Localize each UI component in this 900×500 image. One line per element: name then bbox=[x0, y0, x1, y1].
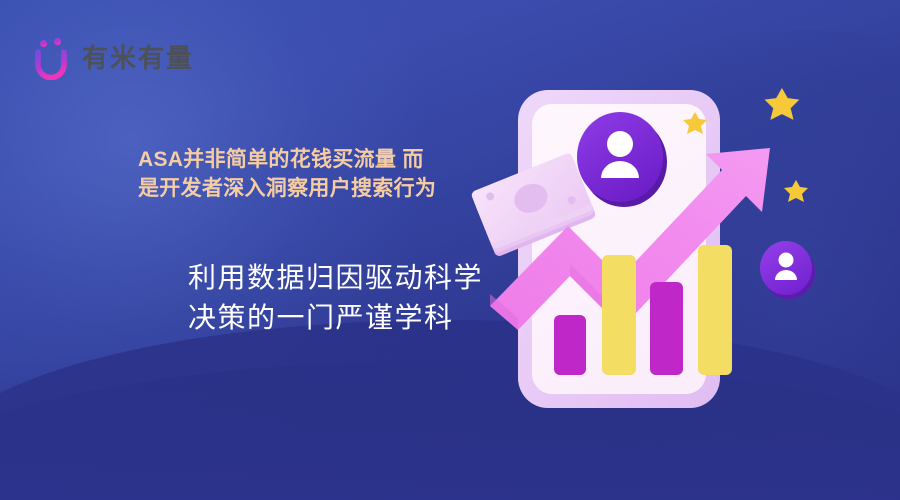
growth-chart-phone-illustration bbox=[470, 60, 900, 460]
star-icon-2 bbox=[765, 88, 800, 120]
u-umlaut-logo-icon bbox=[30, 36, 72, 80]
brand-logo-text: 有米有量 bbox=[82, 45, 194, 71]
user-avatar-small-icon bbox=[760, 241, 815, 299]
star-icon-3 bbox=[784, 180, 808, 202]
brand-logo[interactable]: 有米有量 bbox=[30, 36, 194, 80]
bar-4 bbox=[698, 245, 732, 375]
poster-canvas: 有米有量 ASA并非简单的花钱买流量 而 是开发者深入洞察用户搜索行为 利用数据… bbox=[0, 0, 900, 500]
bar-2 bbox=[602, 255, 636, 375]
bar-1 bbox=[554, 315, 586, 375]
bar-3 bbox=[650, 282, 683, 375]
